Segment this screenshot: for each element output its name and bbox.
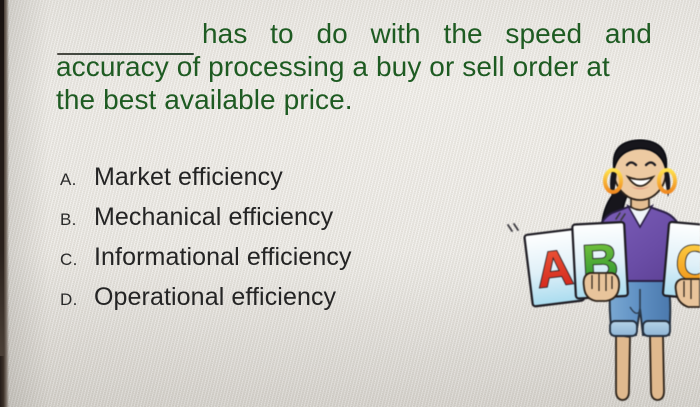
left-leg	[616, 335, 630, 400]
photo-left-edge-dark	[0, 0, 4, 356]
sparkle-mark-left	[508, 224, 518, 231]
jeans-cuff-left	[610, 321, 637, 336]
abc-teacher-svg: A B C	[500, 139, 700, 407]
question-word-has: has	[202, 17, 247, 50]
question-word-and: and	[605, 17, 652, 50]
screenshot-root: has to do with the speed and accuracy of…	[0, 0, 700, 407]
right-hand	[676, 279, 700, 307]
answer-options-list: A. Market efficiency B. Mechanical effic…	[60, 163, 490, 323]
option-d-label: Operational efficiency	[94, 283, 336, 312]
option-c-letter: C.	[60, 250, 94, 270]
flashcard-a-letter: A	[533, 239, 576, 299]
question-text: has to do with the speed and accuracy of…	[56, 17, 652, 116]
question-word-do: do	[316, 17, 347, 50]
jeans-cuff-right	[643, 321, 670, 336]
option-a-label: Market efficiency	[94, 163, 283, 192]
question-word-speed: speed	[505, 17, 582, 50]
question-line-3: the best available price.	[56, 83, 652, 116]
option-d[interactable]: D. Operational efficiency	[60, 283, 490, 323]
option-b-letter: B.	[60, 210, 94, 230]
abc-teacher-illustration: A B C	[500, 139, 700, 407]
answer-blank-underline	[57, 53, 194, 55]
question-word-with: with	[371, 17, 421, 50]
question-word-to: to	[270, 17, 294, 50]
option-b[interactable]: B. Mechanical efficiency	[60, 203, 490, 243]
left-hand	[584, 273, 620, 301]
option-c[interactable]: C. Informational efficiency	[60, 243, 490, 283]
question-word-the: the	[443, 17, 482, 50]
right-leg	[650, 335, 664, 400]
option-a[interactable]: A. Market efficiency	[60, 163, 490, 203]
question-line-1: has to do with the speed and	[56, 17, 652, 50]
option-b-label: Mechanical efficiency	[94, 203, 333, 232]
option-a-letter: A.	[60, 170, 94, 190]
option-d-letter: D.	[60, 290, 94, 310]
option-c-label: Informational efficiency	[94, 243, 352, 272]
